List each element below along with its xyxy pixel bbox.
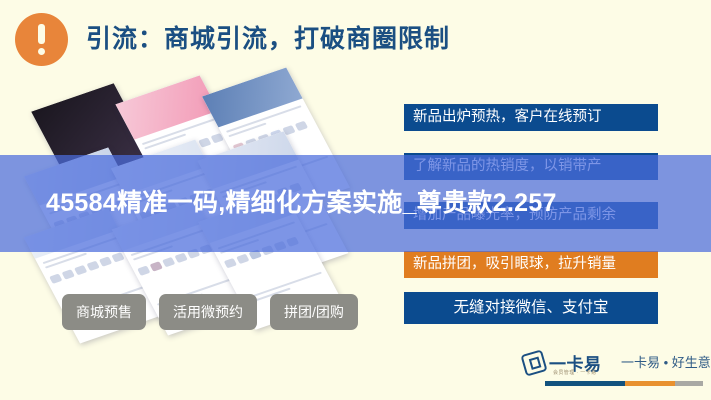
feature-pill-5: 无缝对接微信、支付宝	[404, 292, 658, 324]
brand-logo-icon	[520, 349, 547, 376]
exclamation-dot	[38, 48, 45, 55]
exclamation-bar	[38, 24, 45, 44]
color-bar-orange	[625, 381, 675, 386]
slide-header: 引流：商城引流，打破商圈限制	[0, 0, 711, 78]
overlay-title: 45584精准一码,精细化方案实施_尊贵款2.257	[0, 155, 711, 252]
feature-pill-4: 新品拼团，吸引眼球，拉升销量	[404, 251, 658, 278]
promo-slide: 引流：商城引流，打破商圈限制	[0, 0, 711, 400]
brand-footer: 一卡易 会员管理 · 一卡易 一卡易 • 好生意	[523, 350, 703, 392]
feature-pill-1: 新品出炉预热，客户在线预订	[404, 104, 658, 131]
exclamation-circle-icon	[15, 13, 68, 66]
color-bar-blue	[545, 381, 625, 386]
brand-subtext: 会员管理 · 一卡易	[553, 369, 596, 376]
brand-color-bar	[545, 381, 703, 386]
color-bar-gray	[675, 381, 703, 386]
button-mall-presale[interactable]: 商城预售	[62, 294, 146, 330]
feature-button-row: 商城预售 活用微预约 拼团/团购	[62, 294, 358, 330]
brand-tagline: 一卡易 • 好生意	[621, 352, 711, 371]
button-group-buy[interactable]: 拼团/团购	[270, 294, 358, 330]
button-wechat-booking[interactable]: 活用微预约	[159, 294, 257, 330]
page-title: 引流：商城引流，打破商圈限制	[86, 19, 450, 55]
